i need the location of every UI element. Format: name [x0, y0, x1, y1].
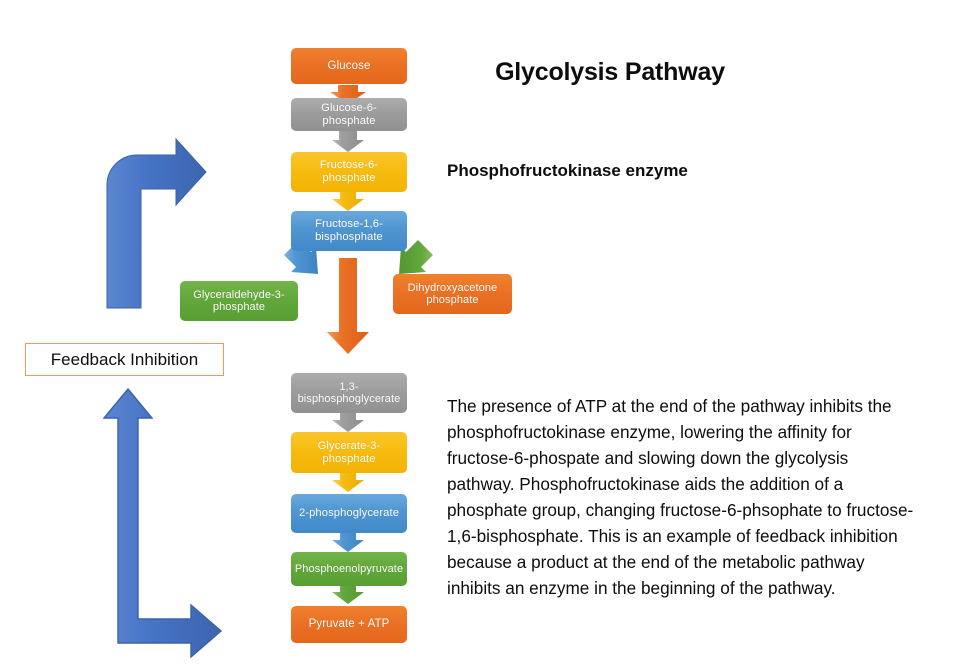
- node-glyceraldehyde-3-phosphate-line1: Glyceraldehyde-3-: [193, 289, 285, 301]
- node-glucose[interactable]: Glucose: [291, 48, 407, 84]
- node-glyceraldehyde-3-phosphate-line2: phosphate: [213, 301, 265, 313]
- arrow-glycerate3p-to-pg2: [332, 473, 364, 492]
- node-glycerate-3-phosphate-line2: phosphate: [322, 453, 375, 466]
- node-glycerate-3-phosphate[interactable]: Glycerate-3- phosphate: [291, 432, 407, 473]
- node-fructose-1-6-bisphosphate-line2: bisphosphate: [315, 231, 383, 244]
- description-paragraph: The presence of ATP at the end of the pa…: [447, 394, 915, 602]
- node-fructose-6-phosphate-line2: phosphate: [322, 172, 375, 185]
- diagram-canvas: Glucose Glucose-6-phosphate Fructose-6- …: [0, 0, 954, 667]
- node-1-3-bisphosphoglycerate-line1: 1,3-: [339, 381, 358, 393]
- node-pyruvate-atp[interactable]: Pyruvate + ATP: [291, 606, 407, 643]
- enzyme-annotation: Phosphofructokinase enzyme: [447, 158, 707, 184]
- node-glucose-label: Glucose: [328, 60, 371, 73]
- arrow-pep-to-pyruvate: [332, 586, 364, 604]
- node-glycerate-3-phosphate-line1: Glycerate-3-: [318, 440, 381, 453]
- node-phosphoenolpyruvate-label: Phosphoenolpyruvate: [295, 563, 403, 575]
- node-1-3-bisphosphoglycerate[interactable]: 1,3- bisphosphoglycerate: [291, 373, 407, 413]
- node-dihydroxyacetone-phosphate-line1: Dihydroxyacetone: [408, 282, 498, 294]
- arrow-bpg13-to-glycerate3p: [332, 413, 364, 432]
- feedback-inhibition-label: Feedback Inhibition: [25, 343, 224, 376]
- node-pyruvate-atp-label: Pyruvate + ATP: [309, 618, 390, 631]
- feedback-inhibition-text: Feedback Inhibition: [51, 350, 198, 370]
- node-fructose-6-phosphate[interactable]: Fructose-6- phosphate: [291, 152, 407, 192]
- node-2-phosphoglycerate-label: 2-phosphoglycerate: [299, 507, 399, 520]
- arrow-f6p-to-f16bp: [332, 192, 364, 211]
- node-phosphoenolpyruvate[interactable]: Phosphoenolpyruvate: [291, 552, 407, 586]
- arrow-g6p-to-f6p: [332, 131, 364, 152]
- node-2-phosphoglycerate[interactable]: 2-phosphoglycerate: [291, 494, 407, 533]
- node-glucose-6-phosphate[interactable]: Glucose-6-phosphate: [291, 98, 407, 131]
- node-dihydroxyacetone-phosphate-line2: phosphate: [426, 294, 478, 306]
- feedback-arrow-lower: [104, 389, 221, 657]
- node-1-3-bisphosphoglycerate-line2: bisphosphoglycerate: [298, 393, 401, 405]
- node-glucose-6-phosphate-label: Glucose-6-phosphate: [295, 102, 403, 127]
- arrow-pathway-continues-down: [327, 258, 369, 354]
- node-dihydroxyacetone-phosphate[interactable]: Dihydroxyacetone phosphate: [393, 274, 512, 314]
- node-fructose-1-6-bisphosphate-line1: Fructose-1,6-: [315, 218, 383, 231]
- page-title: Glycolysis Pathway: [470, 58, 750, 87]
- node-glyceraldehyde-3-phosphate[interactable]: Glyceraldehyde-3- phosphate: [180, 281, 298, 321]
- arrow-pg2-to-pep: [332, 533, 364, 552]
- node-fructose-1-6-bisphosphate[interactable]: Fructose-1,6- bisphosphate: [291, 211, 407, 251]
- node-fructose-6-phosphate-line1: Fructose-6-: [320, 159, 378, 172]
